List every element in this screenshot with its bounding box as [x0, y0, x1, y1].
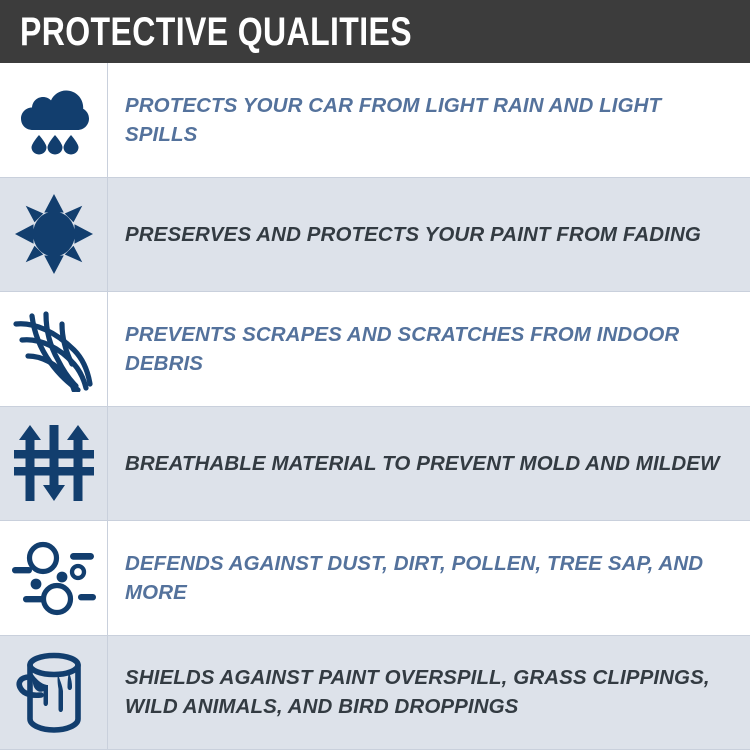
text-cell: Prevents scrapes and scratches from indo… [108, 292, 750, 406]
page-title: Protective Qualities [20, 12, 412, 52]
paint-can-icon [14, 651, 94, 733]
list-item-label: Breathable material to prevent mold and … [125, 449, 720, 478]
icon-cell [0, 292, 108, 406]
list-item[interactable]: Prevents scrapes and scratches from indo… [0, 292, 750, 407]
icon-cell [0, 407, 108, 521]
list-item[interactable]: Protects your car from light rain and li… [0, 63, 750, 178]
protective-qualities-infographic: Protective Qualities Protec [0, 0, 750, 750]
text-cell: Shields against paint overspill, grass c… [108, 636, 750, 750]
rain-cloud-icon [17, 83, 91, 157]
list-item[interactable]: Preserves and protects your paint from f… [0, 178, 750, 293]
feature-list: Protects your car from light rain and li… [0, 63, 750, 750]
text-cell: Defends against dust, dirt, pollen, tree… [108, 521, 750, 635]
breathable-airflow-icon [14, 423, 94, 503]
icon-cell [0, 63, 108, 177]
text-cell: Breathable material to prevent mold and … [108, 407, 750, 521]
list-item-label: Prevents scrapes and scratches from indo… [125, 320, 736, 378]
icon-cell [0, 636, 108, 750]
icon-cell [0, 521, 108, 635]
list-item-label: Shields against paint overspill, grass c… [125, 663, 736, 721]
header-bar: Protective Qualities [0, 0, 750, 63]
list-item-label: Protects your car from light rain and li… [125, 91, 736, 149]
dust-particles-icon [12, 539, 96, 617]
sun-icon [15, 194, 93, 274]
list-item[interactable]: Shields against paint overspill, grass c… [0, 636, 750, 750]
list-item-label: Preserves and protects your paint from f… [125, 220, 701, 249]
icon-cell [0, 178, 108, 292]
text-cell: Protects your car from light rain and li… [108, 63, 750, 177]
list-item[interactable]: Defends against dust, dirt, pollen, tree… [0, 521, 750, 636]
text-cell: Preserves and protects your paint from f… [108, 178, 750, 292]
list-item[interactable]: Breathable material to prevent mold and … [0, 407, 750, 522]
list-item-label: Defends against dust, dirt, pollen, tree… [125, 549, 736, 607]
scratch-mesh-icon [12, 306, 96, 392]
